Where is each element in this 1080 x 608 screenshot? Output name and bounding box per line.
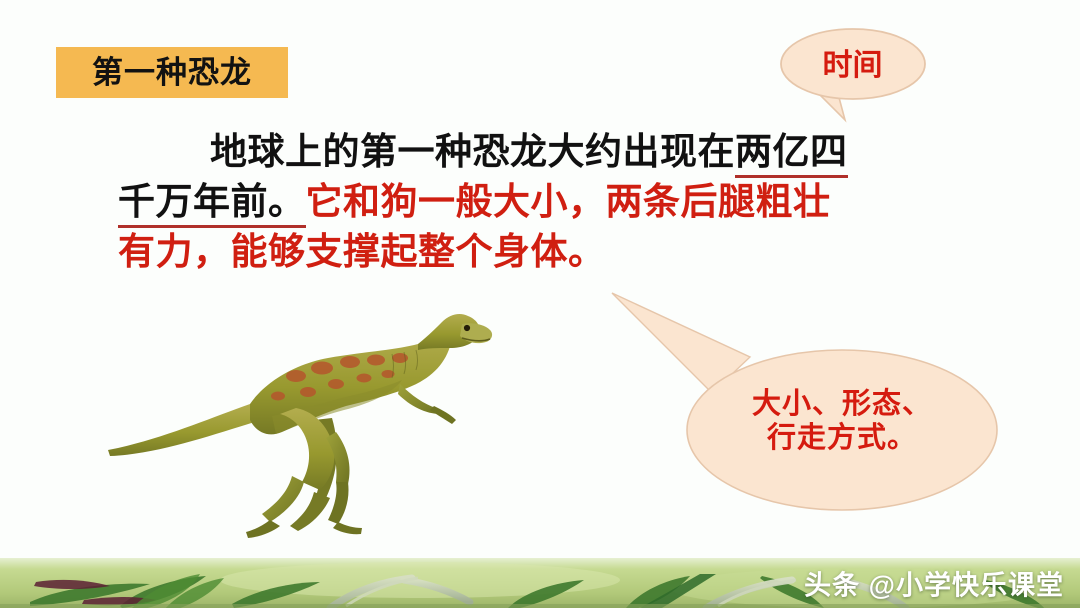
paragraph-line2-red: 它和狗一般大小，两条后腿粗壮 (306, 182, 831, 223)
watermark-text: 头条 @小学快乐课堂 (804, 564, 1064, 603)
bottom-foliage-banner: 头条 @小学快乐课堂 (0, 558, 1080, 608)
paragraph-line-1: 地球上的第一种恐龙大约出现在两亿四 (118, 128, 958, 178)
page-title: 第一种恐龙 (92, 57, 252, 88)
paragraph-line2-underlined: 千万年前。 (118, 182, 306, 228)
callout-time: 时间 (775, 24, 940, 129)
paragraph-line1-plain: 地球上的第一种恐龙大约出现在 (210, 132, 735, 173)
paragraph-line-2: 千万年前。它和狗一般大小，两条后腿粗壮 (118, 178, 958, 228)
paragraph-line3-red: 有力，能够支撑起整个身体。 (118, 232, 606, 273)
callout-traits: 大小、形态、 行走方式。 (600, 285, 1000, 515)
paragraph-line1-underlined: 两亿四 (735, 132, 848, 178)
callout-traits-label: 大小、形态、 行走方式。 (712, 387, 972, 455)
section-title-chip: 第一种恐龙 (56, 47, 288, 98)
body-paragraph: 地球上的第一种恐龙大约出现在两亿四 千万年前。它和狗一般大小，两条后腿粗壮 有力… (118, 128, 958, 278)
paragraph-line-3: 有力，能够支撑起整个身体。 (118, 228, 958, 278)
dinosaur-illustration (100, 300, 500, 540)
callout-time-label: 时间 (775, 48, 930, 83)
slide-canvas: 第一种恐龙 地球上的第一种恐龙大约出现在两亿四 千万年前。它和狗一般大小，两条后… (0, 0, 1080, 608)
